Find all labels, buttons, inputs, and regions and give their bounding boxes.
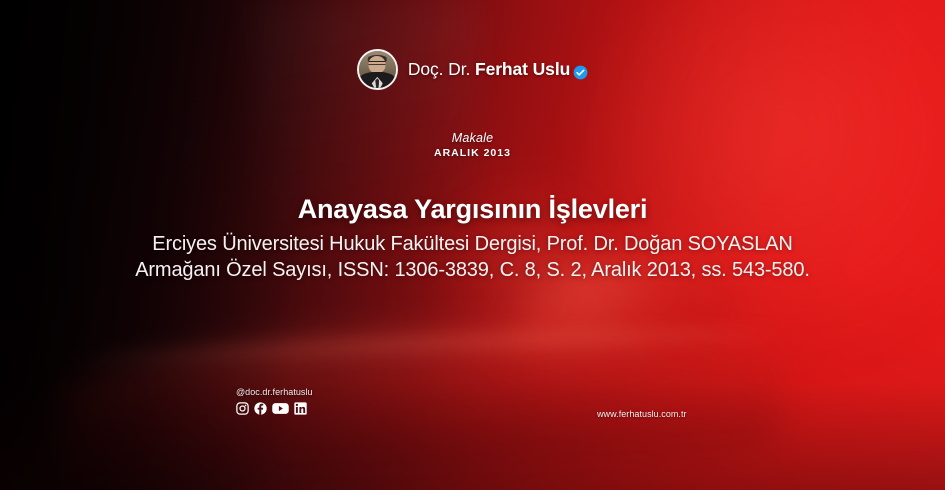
facebook-icon[interactable] [254,402,267,415]
social-handle: @doc.dr.ferhatuslu [236,386,313,398]
social-icon-list [236,402,313,415]
website-url[interactable]: www.ferhatuslu.com.tr [597,408,687,420]
instagram-icon[interactable] [236,402,249,415]
avatar [357,49,398,90]
citation-line-1: Erciyes Üniversitesi Hukuk Fakültesi Der… [93,231,853,257]
article-share-card: Doç. Dr. Ferhat Uslu Makale ARALIK 2013 … [0,0,945,490]
social-block: @doc.dr.ferhatuslu [236,386,313,415]
linkedin-icon[interactable] [294,402,307,415]
page-title: Anayasa Yargısının İşlevleri [0,192,945,226]
article-kind-label: Makale [0,130,945,146]
article-date-label: ARALIK 2013 [0,146,945,161]
author-row: Doç. Dr. Ferhat Uslu [0,49,945,90]
article-meta: Makale ARALIK 2013 [0,130,945,161]
article-citation: Erciyes Üniversitesi Hukuk Fakültesi Der… [93,231,853,283]
author-title-prefix: Doç. Dr. [408,59,470,79]
author-name: Doç. Dr. Ferhat Uslu [408,59,588,80]
youtube-icon[interactable] [272,402,289,415]
author-full-name: Ferhat Uslu [475,59,570,79]
verified-badge-icon [573,64,588,79]
citation-line-2: Armağanı Özel Sayısı, ISSN: 1306-3839, C… [93,257,853,283]
